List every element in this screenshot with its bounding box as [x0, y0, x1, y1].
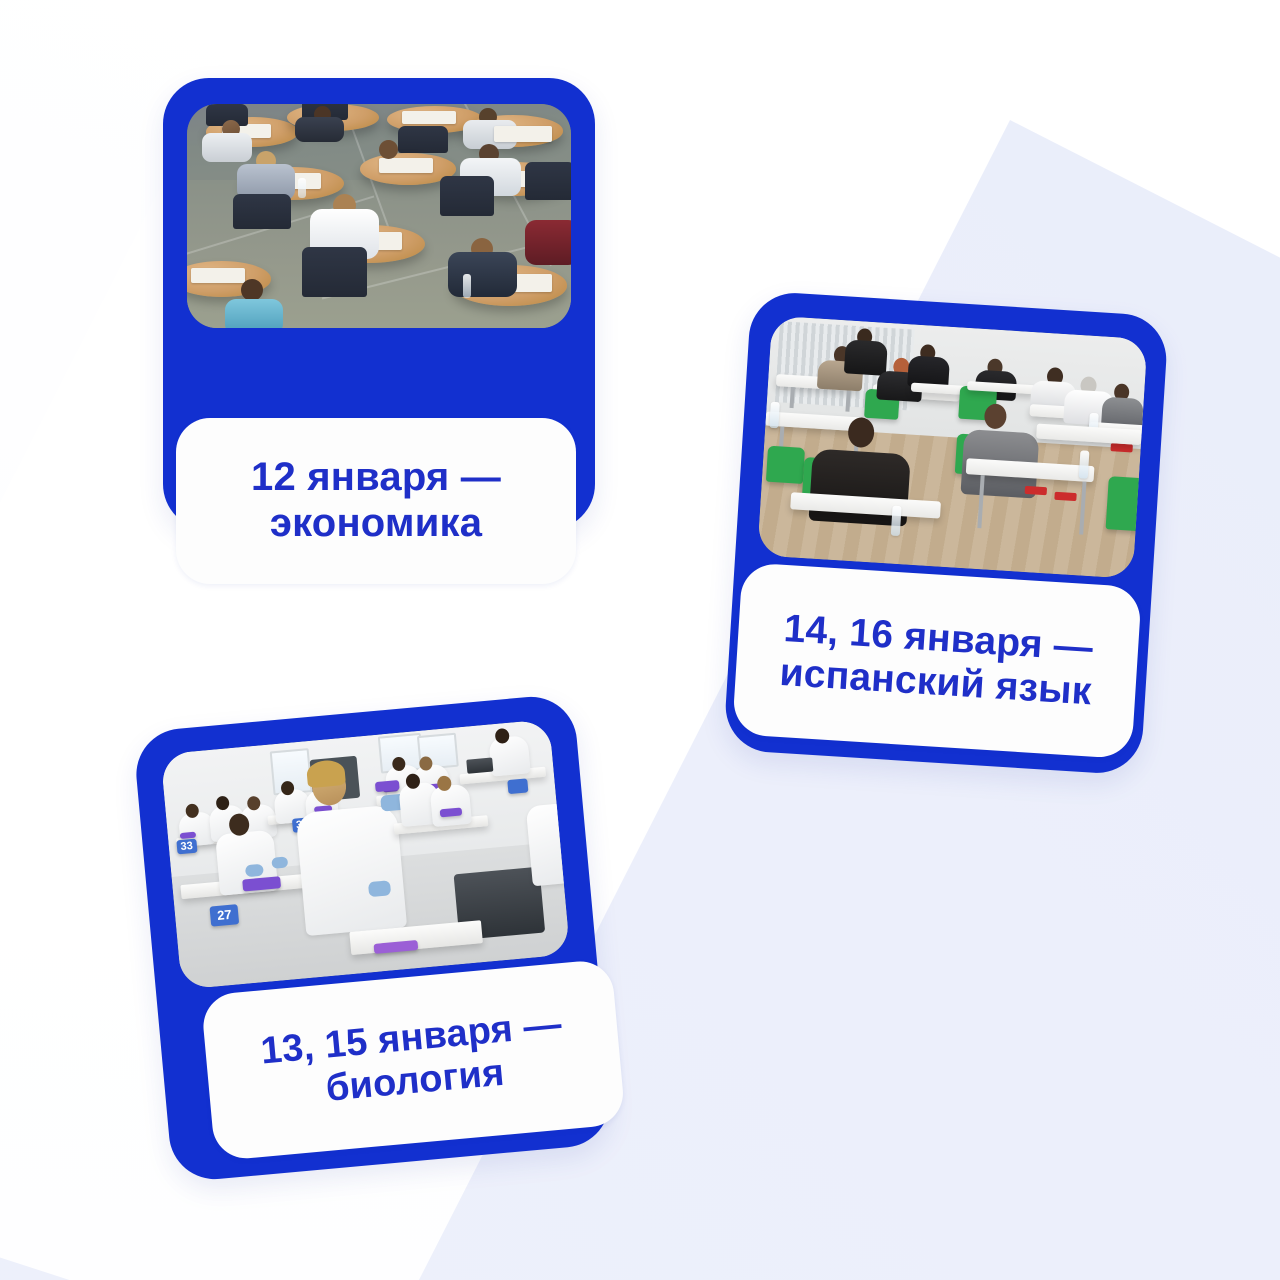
classroom-green-chairs-photo	[757, 316, 1147, 579]
poster-canvas: 12 января — экономика	[0, 0, 1280, 1280]
card-economics[interactable]: 12 января — экономика	[163, 78, 595, 530]
card-label-line2: экономика	[241, 501, 511, 547]
card-label-line1: 12 января —	[241, 455, 511, 501]
card-label-economics: 12 января — экономика	[176, 418, 576, 584]
exam-hall-round-tables-photo	[187, 104, 571, 328]
biology-lab-photo: 33 30	[160, 719, 570, 989]
card-label-spanish: 14, 16 января — испанский язык	[732, 562, 1142, 759]
card-spanish[interactable]: 14, 16 января — испанский язык	[723, 290, 1169, 775]
card-label-biology: 13, 15 января — биология	[201, 959, 626, 1162]
card-biology[interactable]: 33 30	[132, 693, 613, 1183]
